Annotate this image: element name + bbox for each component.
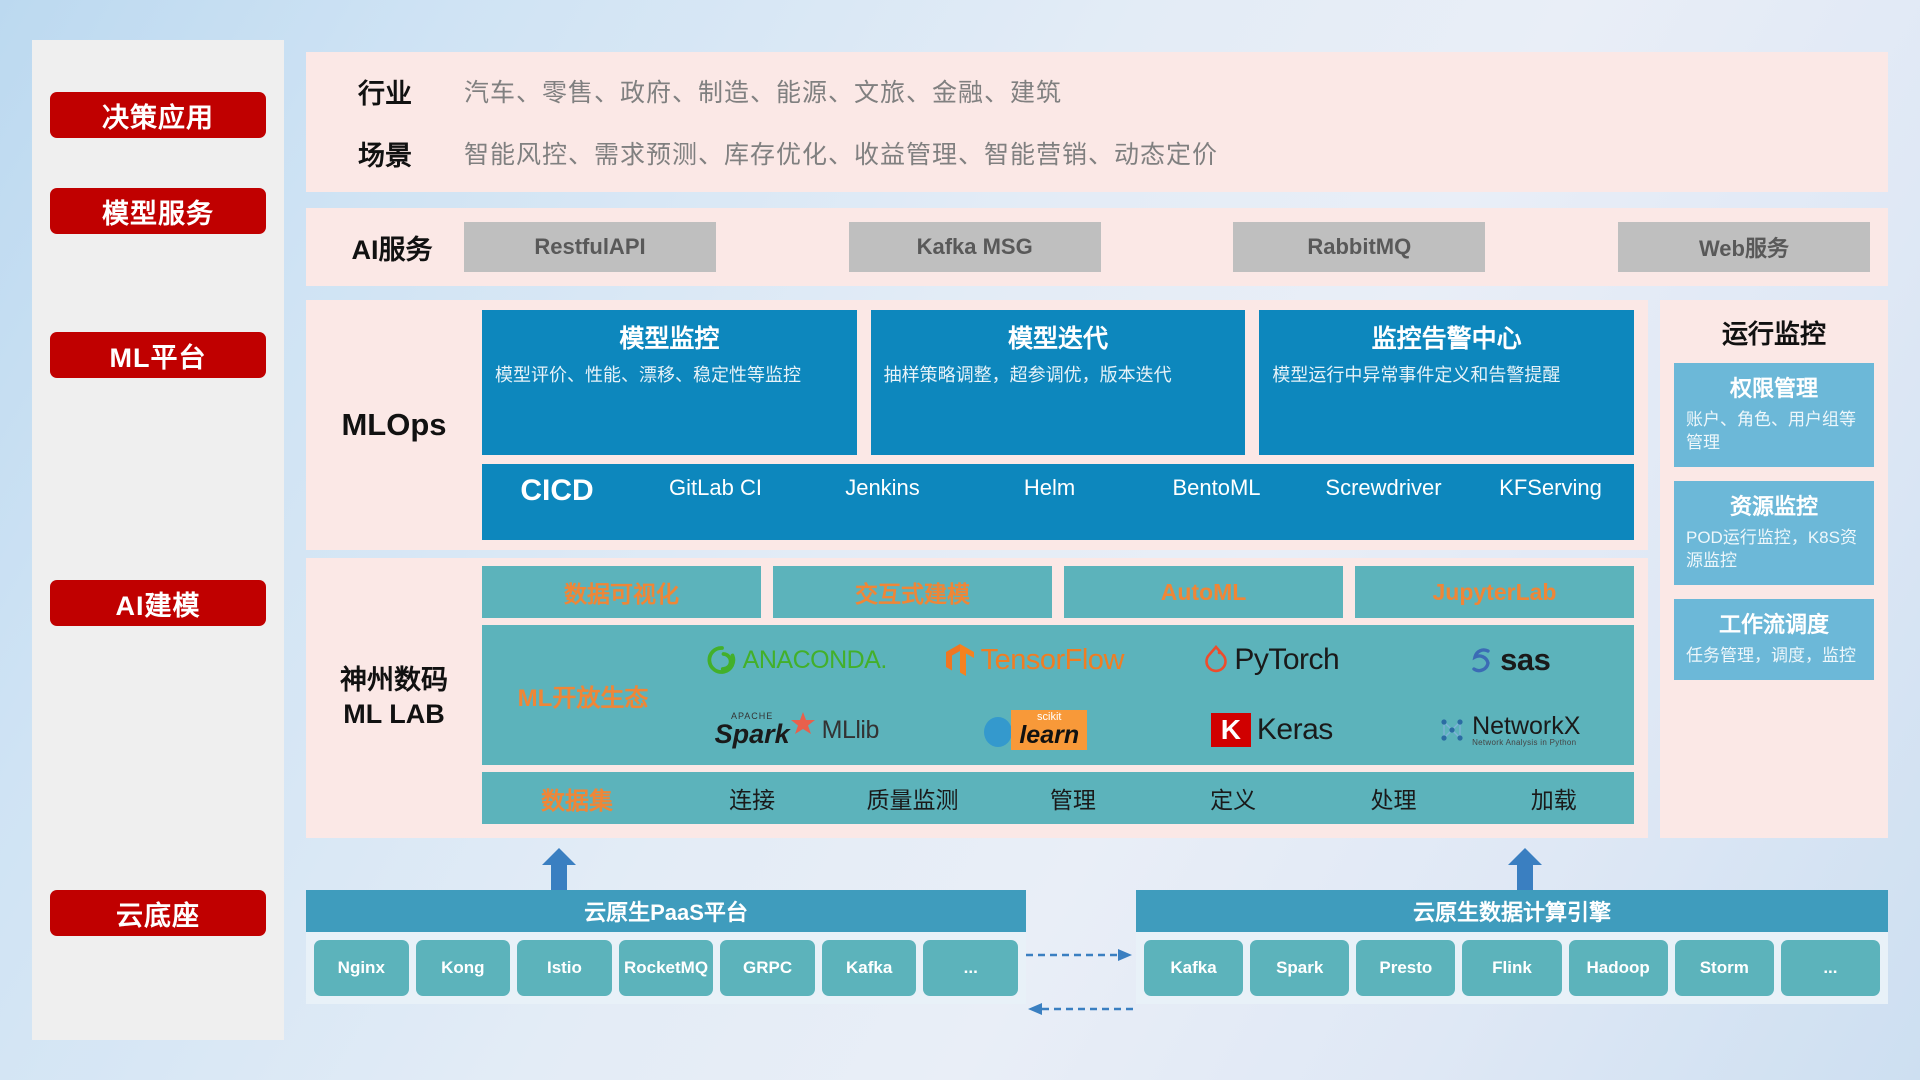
- cicd-bar: CICD GitLab CI Jenkins Helm BentoML Scre…: [482, 464, 1634, 540]
- mlops-label: MLOps: [306, 300, 482, 550]
- dashed-arrow-right-icon: [1026, 948, 1134, 962]
- dataset-item-manage[interactable]: 管理: [993, 781, 1153, 815]
- dataset-item-load[interactable]: 加载: [1474, 781, 1634, 815]
- pytorch-logo: PyTorch: [1153, 643, 1391, 677]
- cicd-item-gitlab-ci[interactable]: GitLab CI: [632, 474, 799, 502]
- ai-service-label: AI服务: [320, 228, 464, 267]
- architecture-diagram: 决策应用 模型服务 ML平台 AI建模 云底座 行业 汽车、零售、政府、制造、能…: [0, 0, 1920, 1080]
- engine-chip-flink[interactable]: Flink: [1462, 940, 1561, 996]
- left-rail: 决策应用 模型服务 ML平台 AI建模 云底座: [32, 40, 284, 1040]
- ml-ecosystem-row: ML开放生态 ANACONDA.: [482, 625, 1634, 765]
- sas-logo: sas: [1391, 642, 1629, 678]
- industry-values: 汽车、零售、政府、制造、能源、文旅、金融、建筑: [464, 73, 1062, 109]
- dataset-item-quality-monitor[interactable]: 质量监测: [832, 781, 992, 815]
- rail-item-cloud-base[interactable]: 云底座: [50, 890, 266, 936]
- card-title: 监控告警中心: [1272, 319, 1621, 355]
- paas-chip-more[interactable]: ...: [923, 940, 1018, 996]
- cloud-data-engine-header: 云原生数据计算引擎: [1136, 890, 1888, 932]
- dataset-item-define[interactable]: 定义: [1153, 781, 1313, 815]
- mllib-text: MLlib: [822, 716, 879, 745]
- networkx-logo: NetworkX Network Analysis in Python: [1391, 713, 1629, 748]
- card-desc: 模型评价、性能、漂移、稳定性等监控: [495, 363, 844, 387]
- monitor-card-permission[interactable]: 权限管理 账户、角色、用户组等管理: [1674, 363, 1874, 467]
- card-title: 工作流调度: [1686, 607, 1862, 639]
- card-title: 权限管理: [1686, 371, 1862, 403]
- engine-chip-storm[interactable]: Storm: [1675, 940, 1774, 996]
- card-desc: 模型运行中异常事件定义和告警提醒: [1272, 363, 1621, 387]
- paas-chip-kong[interactable]: Kong: [416, 940, 511, 996]
- learn-text: learn: [1019, 723, 1079, 748]
- card-title: 模型监控: [495, 319, 844, 355]
- rail-item-decision-app[interactable]: 决策应用: [50, 92, 266, 138]
- cloud-native-paas-group: 云原生PaaS平台 Nginx Kong Istio RocketMQ GRPC…: [306, 890, 1026, 1004]
- cicd-item-bentoml[interactable]: BentoML: [1133, 474, 1300, 502]
- monitor-card-resource[interactable]: 资源监控 POD运行监控，K8S资源监控: [1674, 481, 1874, 585]
- tool-automl[interactable]: AutoML: [1064, 566, 1343, 618]
- keras-logo: K Keras: [1153, 713, 1391, 747]
- engine-chip-more[interactable]: ...: [1781, 940, 1880, 996]
- engine-chip-hadoop[interactable]: Hadoop: [1569, 940, 1668, 996]
- scenario-label: 场景: [306, 134, 464, 173]
- pytorch-text: PyTorch: [1234, 643, 1339, 677]
- rail-item-ml-platform[interactable]: ML平台: [50, 332, 266, 378]
- mlops-card-model-monitoring[interactable]: 模型监控 模型评价、性能、漂移、稳定性等监控: [482, 310, 857, 455]
- scikit-blue-blob-icon: [981, 710, 1015, 750]
- keras-text: Keras: [1257, 713, 1333, 747]
- mlops-card-model-iteration[interactable]: 模型迭代 抽样策略调整，超参调优，版本迭代: [871, 310, 1246, 455]
- card-title: 模型迭代: [884, 319, 1233, 355]
- engine-chip-spark[interactable]: Spark: [1250, 940, 1349, 996]
- service-box-rabbitmq[interactable]: RabbitMQ: [1233, 222, 1485, 272]
- anaconda-icon: [707, 645, 737, 675]
- spark-text: Spark: [715, 721, 790, 748]
- scikit-learn-logo: scikit learn: [916, 710, 1154, 750]
- up-arrow-paas-icon: [542, 848, 576, 890]
- up-arrow-data-engine-icon: [1508, 848, 1542, 890]
- sas-icon: [1468, 646, 1494, 674]
- paas-chip-kafka[interactable]: Kafka: [822, 940, 917, 996]
- card-desc: 账户、角色、用户组等管理: [1686, 409, 1862, 455]
- ai-modeling-band: 神州数码 ML LAB 数据可视化 交互式建模 AutoML JupyterLa…: [306, 558, 1648, 838]
- cicd-item-jenkins[interactable]: Jenkins: [799, 474, 966, 502]
- industry-label: 行业: [306, 72, 464, 111]
- cicd-item-screwdriver[interactable]: Screwdriver: [1300, 474, 1467, 502]
- dataset-item-process[interactable]: 处理: [1313, 781, 1473, 815]
- paas-chip-nginx[interactable]: Nginx: [314, 940, 409, 996]
- runtime-monitoring-column: 运行监控 权限管理 账户、角色、用户组等管理 资源监控 POD运行监控，K8S资…: [1660, 300, 1888, 838]
- cicd-item-kfserving[interactable]: KFServing: [1467, 474, 1634, 502]
- card-desc: 抽样策略调整，超参调优，版本迭代: [884, 363, 1233, 387]
- card-title: 资源监控: [1686, 489, 1862, 521]
- tool-row: 数据可视化 交互式建模 AutoML JupyterLab: [482, 566, 1634, 618]
- card-desc: POD运行监控，K8S资源监控: [1686, 527, 1862, 573]
- runtime-monitoring-title: 运行监控: [1660, 300, 1888, 363]
- ml-lab-label-line1: 神州数码: [340, 664, 448, 698]
- paas-chip-istio[interactable]: Istio: [517, 940, 612, 996]
- cloud-native-data-engine-group: 云原生数据计算引擎 Kafka Spark Presto Flink Hadoo…: [1136, 890, 1888, 1004]
- networkx-text: NetworkX: [1472, 713, 1580, 739]
- networkx-icon: [1438, 716, 1466, 744]
- tool-interactive-modeling[interactable]: 交互式建模: [773, 566, 1052, 618]
- monitor-card-workflow[interactable]: 工作流调度 任务管理，调度，监控: [1674, 599, 1874, 680]
- engine-chip-kafka[interactable]: Kafka: [1144, 940, 1243, 996]
- service-box-kafka-msg[interactable]: Kafka MSG: [849, 222, 1101, 272]
- tensorflow-icon: [945, 643, 975, 677]
- keras-k-icon: K: [1211, 713, 1251, 747]
- dataset-row: 数据集 连接 质量监测 管理 定义 处理 加载: [482, 772, 1634, 824]
- tensorflow-logo: TensorFlow: [916, 643, 1154, 677]
- dashed-arrow-left-icon: [1026, 1002, 1134, 1016]
- paas-chip-grpc[interactable]: GRPC: [720, 940, 815, 996]
- sas-text: sas: [1500, 642, 1550, 678]
- tensorflow-text: TensorFlow: [981, 644, 1124, 677]
- industry-row: 行业 汽车、零售、政府、制造、能源、文旅、金融、建筑: [306, 60, 1888, 122]
- cicd-item-helm[interactable]: Helm: [966, 474, 1133, 502]
- decision-app-band: 行业 汽车、零售、政府、制造、能源、文旅、金融、建筑 场景 智能风控、需求预测、…: [306, 52, 1888, 192]
- paas-chip-rocketmq[interactable]: RocketMQ: [619, 940, 714, 996]
- scenario-values: 智能风控、需求预测、库存优化、收益管理、智能营销、动态定价: [464, 135, 1218, 171]
- spark-mllib-logo: APACHE Spark MLlib: [678, 711, 916, 749]
- networkx-subtitle: Network Analysis in Python: [1472, 739, 1580, 747]
- cicd-label: CICD: [482, 474, 632, 508]
- pytorch-icon: [1204, 645, 1228, 675]
- rail-item-model-service[interactable]: 模型服务: [50, 188, 266, 234]
- spark-star-icon: [790, 711, 816, 737]
- dataset-item-connect[interactable]: 连接: [672, 781, 832, 815]
- service-box-restfulapi[interactable]: RestfulAPI: [464, 222, 716, 272]
- service-box-web[interactable]: Web服务: [1618, 222, 1870, 272]
- anaconda-text: ANACONDA.: [743, 646, 887, 675]
- card-desc: 任务管理，调度，监控: [1686, 645, 1862, 668]
- ml-platform-band: MLOps 模型监控 模型评价、性能、漂移、稳定性等监控 模型迭代 抽样策略调整…: [306, 300, 1648, 550]
- engine-chip-presto[interactable]: Presto: [1356, 940, 1455, 996]
- cloud-paas-header: 云原生PaaS平台: [306, 890, 1026, 932]
- tool-data-visualization[interactable]: 数据可视化: [482, 566, 761, 618]
- tool-jupyterlab[interactable]: JupyterLab: [1355, 566, 1634, 618]
- ml-ecosystem-label: ML开放生态: [488, 678, 678, 713]
- rail-item-ai-modeling[interactable]: AI建模: [50, 580, 266, 626]
- scenario-row: 场景 智能风控、需求预测、库存优化、收益管理、智能营销、动态定价: [306, 122, 1888, 184]
- ml-lab-label-line2: ML LAB: [343, 698, 445, 732]
- ai-service-band: AI服务 RestfulAPI Kafka MSG RabbitMQ Web服务: [306, 208, 1888, 286]
- dataset-label: 数据集: [482, 781, 672, 816]
- anaconda-logo: ANACONDA.: [678, 645, 916, 675]
- mlops-card-alert-center[interactable]: 监控告警中心 模型运行中异常事件定义和告警提醒: [1259, 310, 1634, 455]
- ml-lab-label: 神州数码 ML LAB: [306, 558, 482, 838]
